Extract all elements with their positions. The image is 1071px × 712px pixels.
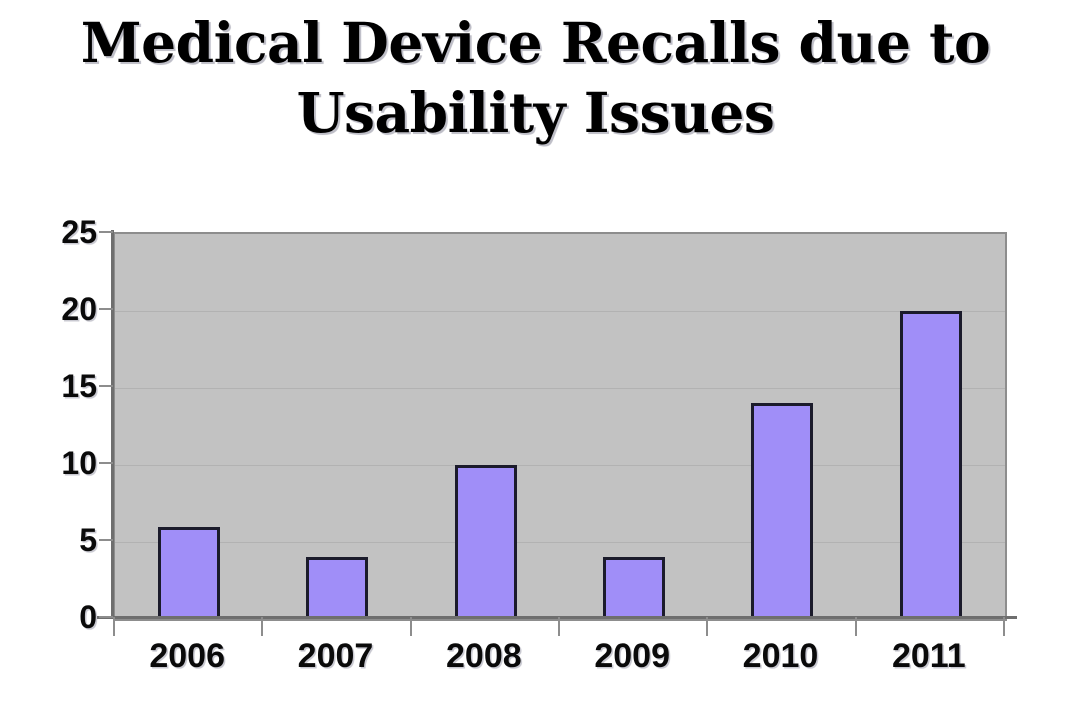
- x-tick-mark: [558, 617, 560, 636]
- bar-2010[interactable]: [751, 403, 813, 619]
- y-tick-label: 5: [25, 524, 97, 556]
- chart-title: Medical Device Recalls due to Usability …: [0, 8, 1071, 148]
- x-tick-mark: [706, 617, 708, 636]
- y-tick-mark: [99, 539, 113, 541]
- bar-slot: [115, 234, 263, 619]
- x-tick-label-2006: 2006: [113, 637, 261, 675]
- y-tick-label: 25: [25, 216, 97, 248]
- x-tick-mark: [410, 617, 412, 636]
- x-tick-label-2007: 2007: [261, 637, 409, 675]
- bar-slot: [857, 234, 1005, 619]
- y-tick-mark: [99, 385, 113, 387]
- plot-area: [113, 232, 1007, 621]
- y-tick-mark: [99, 462, 113, 464]
- y-axis-line: [111, 230, 114, 619]
- bar-2009[interactable]: [603, 557, 665, 619]
- bar-slot: [708, 234, 856, 619]
- x-tick-mark: [1003, 617, 1005, 636]
- y-tick-mark: [99, 308, 113, 310]
- x-axis-line: [97, 616, 1017, 619]
- y-tick-mark: [99, 616, 113, 618]
- y-tick-label: 20: [25, 293, 97, 325]
- y-tick-mark: [99, 231, 113, 233]
- bar-2007[interactable]: [306, 557, 368, 619]
- y-tick-label: 15: [25, 370, 97, 402]
- x-tick-label-2008: 2008: [410, 637, 558, 675]
- bar-slot: [263, 234, 411, 619]
- x-tick-label-2011: 2011: [855, 637, 1003, 675]
- x-tick-label-2009: 2009: [558, 637, 706, 675]
- bar-2006[interactable]: [158, 527, 220, 619]
- x-tick-mark: [855, 617, 857, 636]
- bar-2011[interactable]: [900, 311, 962, 619]
- bar-chart-figure: 0510152025 200620072008200920102011: [0, 190, 1071, 712]
- x-tick-label-2010: 2010: [706, 637, 854, 675]
- x-tick-mark: [261, 617, 263, 636]
- bar-slot: [560, 234, 708, 619]
- y-tick-label: 0: [25, 601, 97, 633]
- bar-2008[interactable]: [455, 465, 517, 619]
- bar-slot: [412, 234, 560, 619]
- y-tick-label: 10: [25, 447, 97, 479]
- x-tick-mark: [113, 617, 115, 636]
- bars-layer: [115, 234, 1005, 619]
